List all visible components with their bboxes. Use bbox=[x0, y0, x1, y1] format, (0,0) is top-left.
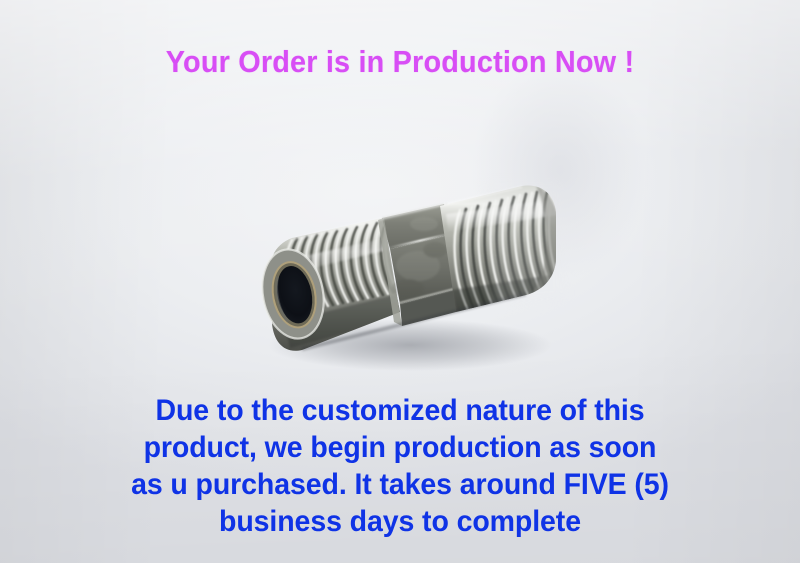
product-photo-hex-nipple bbox=[232, 162, 577, 407]
body-copy-line-4: business days to complete bbox=[20, 503, 780, 540]
body-copy-line-1: Due to the customized nature of this bbox=[20, 392, 780, 429]
body-copy: Due to the customized nature of this pro… bbox=[20, 392, 780, 540]
body-copy-line-3: as u purchased. It takes around FIVE (5) bbox=[20, 466, 780, 503]
body-copy-line-2: product, we begin production as soon bbox=[20, 429, 780, 466]
page-title: Your Order is in Production Now ! bbox=[28, 44, 772, 80]
promotional-image: Your Order is in Production Now ! bbox=[0, 0, 800, 563]
